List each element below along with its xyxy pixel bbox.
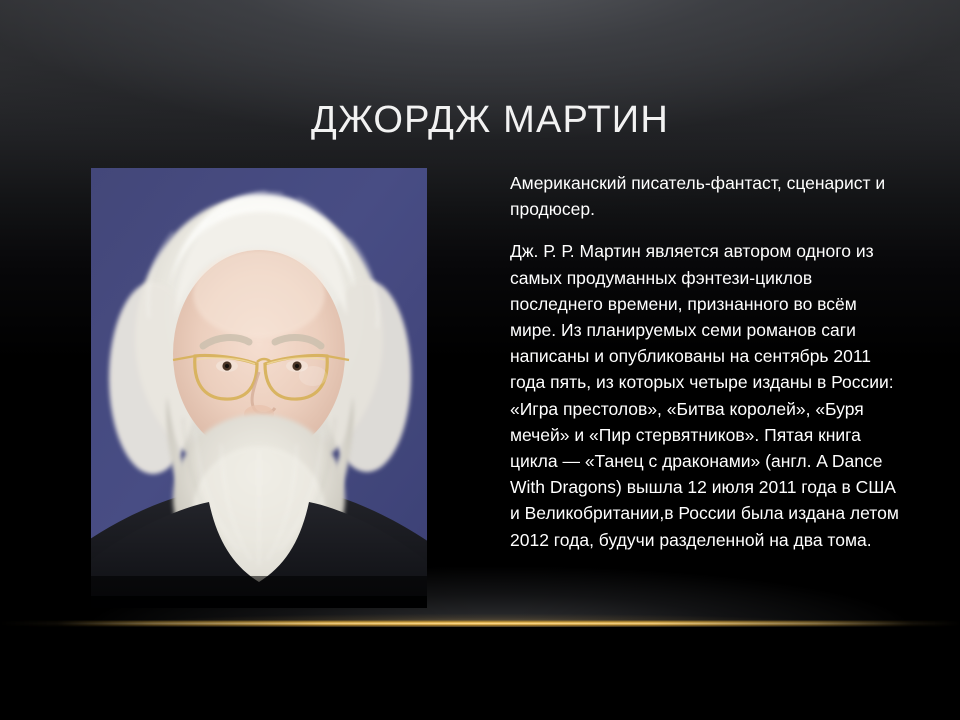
- body-paragraph-intro: Американский писатель-фантаст, сценарист…: [510, 170, 906, 222]
- author-photo: [91, 168, 427, 608]
- slide-footer-area: [0, 627, 960, 720]
- page-title: ДЖОРДЖ МАРТИН: [60, 98, 920, 142]
- presentation-slide: ДЖОРДЖ МАРТИН Американский писатель-фант…: [0, 0, 960, 720]
- body-paragraph-biography: Дж. Р. Р. Мартин является автором одного…: [510, 238, 906, 552]
- body-text-column: Американский писатель-фантаст, сценарист…: [510, 170, 906, 563]
- accent-rule: [0, 620, 960, 627]
